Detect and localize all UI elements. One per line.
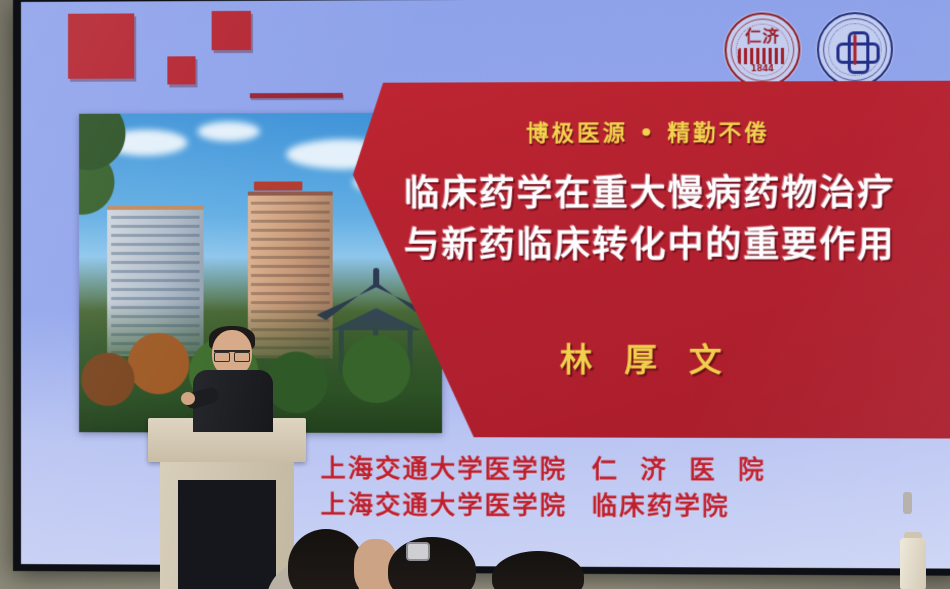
deco-square-small [167, 56, 195, 84]
affiliation-line-2-college: 临床药学院 [592, 491, 730, 521]
hair-clip [406, 542, 430, 561]
campus-trees-upper-left [79, 114, 149, 224]
deco-bar-left [250, 93, 343, 98]
affiliation-line-1-university: 上海交通大学医学院 [321, 454, 568, 484]
lectern [148, 418, 306, 589]
renji-logo-wave [738, 48, 787, 64]
deco-square-medium [212, 11, 251, 50]
glasses-icon [214, 350, 250, 358]
renji-hospital-logo-icon: 仁济 1844 [723, 11, 801, 88]
water-bottle [900, 538, 926, 589]
wall-fixture [903, 492, 912, 514]
logo-row: 仁济 1844 [723, 11, 894, 89]
slide-subtitle: 博极医源 • 精勤不倦 [353, 114, 946, 148]
renji-logo-year: 1844 [723, 64, 801, 73]
affiliation-line-2-university: 上海交通大学医学院 [321, 490, 568, 520]
affiliation-line-2: 上海交通大学医学院临床药学院 [321, 487, 771, 525]
slide-title-line-1: 临床药学在重大慢病药物治疗 [353, 164, 948, 217]
affiliation-line-1-hospital: 仁 济 医 院 [592, 455, 771, 485]
lectern-front-panel [178, 480, 276, 589]
presenter-hand [181, 392, 195, 405]
red-title-banner: 博极医源 • 精勤不倦 临床药学在重大慢病药物治疗 与新药临床转化中的重要作用 … [353, 81, 950, 439]
slide-title-line-2: 与新药临床转化中的重要作用 [353, 216, 948, 268]
lecture-room: 仁济 1844 [0, 0, 950, 589]
deco-square-large [68, 13, 134, 78]
renji-logo-text: 仁济 [723, 29, 801, 46]
affiliation-block: 上海交通大学医学院仁 济 医 院 上海交通大学医学院临床药学院 [321, 451, 771, 525]
presenter [183, 330, 279, 430]
medical-school-logo-icon [816, 11, 894, 88]
affiliation-line-1: 上海交通大学医学院仁 济 医 院 [321, 451, 771, 489]
